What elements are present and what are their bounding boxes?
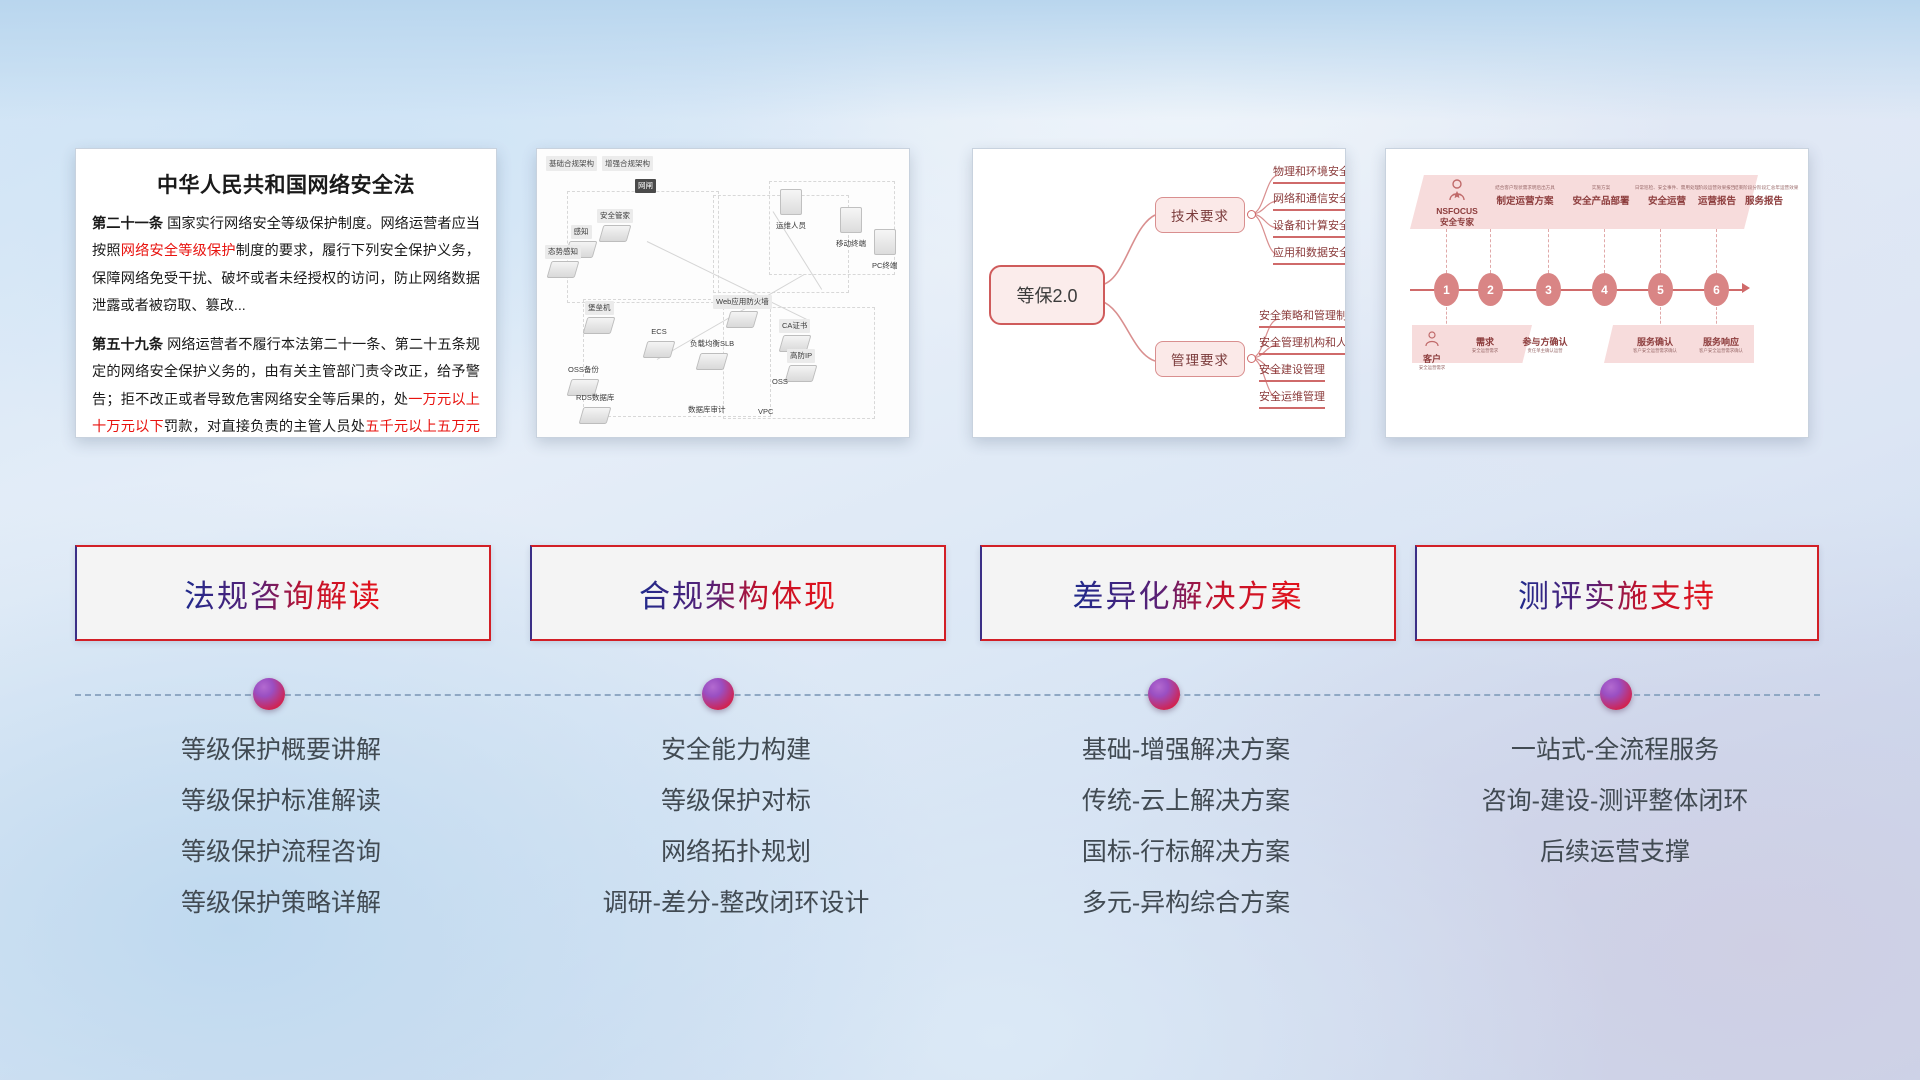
mindmap-leaf: 安全策略和管理制度 <box>1259 307 1346 328</box>
timeline-persona: NSFOCUS 安全专家 <box>1428 179 1486 227</box>
article-21-label: 第二十一条 <box>92 216 163 232</box>
timeline-arrow-icon <box>1742 283 1750 293</box>
bottom-title: 需求 <box>1458 335 1512 348</box>
law-text-block: 中华人民共和国网络安全法 第二十一条 国家实行网络安全等级保护制度。网络运营者应… <box>76 149 496 437</box>
arch-node-ecs: ECS <box>645 321 673 358</box>
persona-name-en: NSFOCUS <box>1428 206 1486 217</box>
arch-node-waf: Web应用防火墙 <box>713 291 772 328</box>
detail-list-compliance-architecture: 安全能力构建 等级保护对标 网络拓扑规划 调研-差分-整改闭环设计 <box>530 738 942 942</box>
article-59-label: 第五十九条 <box>92 337 163 353</box>
arch-node-label: 感知 <box>571 225 592 239</box>
list-item: 网络拓扑规划 <box>530 840 942 865</box>
timeline-dash <box>1716 229 1718 273</box>
timeline-diagram: NSFOCUS 安全专家 结合客户现状需求明后出方具 制定运营方案 实施方案 安… <box>1386 149 1808 437</box>
list-item: 多元-异构综合方案 <box>980 891 1392 916</box>
timeline-node-4[interactable]: 4 <box>1592 273 1617 306</box>
mindmap-collapse-icon[interactable] <box>1247 210 1256 219</box>
law-article-21: 第二十一条 国家实行网络安全等级保护制度。网络运营者应当按照网络安全等级保护制度… <box>92 211 480 320</box>
arch-node-mobile: 移动终端 <box>833 205 869 251</box>
arch-node-label: PC终端 <box>869 259 900 273</box>
list-item: 一站式-全流程服务 <box>1415 738 1815 763</box>
timeline-node-3[interactable]: 3 <box>1536 273 1561 306</box>
detail-list-evaluation-support: 一站式-全流程服务 咨询-建设-测评整体闭环 后续运营支撑 <box>1415 738 1815 891</box>
list-item: 咨询-建设-测评整体闭环 <box>1415 789 1815 814</box>
card-cybersecurity-law: 中华人民共和国网络安全法 第二十一条 国家实行网络安全等级保护制度。网络运营者应… <box>75 148 497 438</box>
arch-node-security-butler: 安全管家 <box>597 205 633 242</box>
timeline-bottom-client: 客户 安全运营需求 <box>1412 331 1452 371</box>
category-pill-evaluation-support[interactable]: 测评实施支持 <box>1415 545 1819 641</box>
arch-node-label: ECS <box>648 326 669 338</box>
arch-node-label: Web应用防火墙 <box>713 295 772 309</box>
bottom-title: 参与方确认 <box>1510 335 1580 348</box>
timeline-node-1[interactable]: 1 <box>1434 273 1459 306</box>
timeline-dash <box>1660 229 1662 273</box>
arch-node-vpc: VPC <box>755 401 776 419</box>
timeline-step-head-6: 结束阶段分阶段汇总年运营效果 服务报告 <box>1734 185 1794 209</box>
step-title: 制定运营方案 <box>1496 196 1553 207</box>
timeline-bottom-response: 服务响应 客户安全运营需求确认 <box>1690 335 1752 354</box>
bottom-title: 服务确认 <box>1624 335 1686 348</box>
timeline-node-2[interactable]: 2 <box>1478 273 1503 306</box>
list-item: 传统-云上解决方案 <box>980 789 1392 814</box>
arch-node-shape <box>643 341 676 358</box>
mindmap-leaf: 网络和通信安全 <box>1273 190 1346 211</box>
detail-list-row: 等级保护概要讲解 等级保护标准解读 等级保护流程咨询 等级保护策略详解 安全能力… <box>0 738 1920 988</box>
bottom-sub: 客户安全运营需求确认 <box>1624 348 1686 354</box>
timeline-node-5[interactable]: 5 <box>1648 273 1673 306</box>
arch-node-shape <box>874 229 896 255</box>
list-item: 等级保护标准解读 <box>75 789 487 814</box>
article-21-highlight: 网络安全等级保护 <box>121 243 236 259</box>
timeline-bottom-participate: 参与方确认 责任单主确认运营 <box>1510 335 1580 354</box>
arch-node-shape <box>599 225 632 242</box>
step-sub: 结束阶段分阶段汇总年运营效果 <box>1734 185 1794 191</box>
arch-node-label: RDS数据库 <box>573 391 617 405</box>
infographic-canvas: 中华人民共和国网络安全法 第二十一条 国家实行网络安全等级保护制度。网络运营者应… <box>0 0 1920 1080</box>
arch-node-shape <box>726 311 759 328</box>
arch-node-label: CA证书 <box>779 319 810 333</box>
client-person-icon <box>1424 331 1440 347</box>
process-knob-2[interactable] <box>702 678 734 710</box>
process-axis-line <box>75 694 1820 696</box>
architecture-diagram: 基础合规架构 增强合规架构 网闸 安全管家 感知 <box>537 149 909 437</box>
arch-node-label: 高防IP <box>787 349 815 363</box>
timeline-step-head-2: 结合客户现状需求明后出方具 制定运营方案 <box>1482 185 1568 209</box>
arch-node-shape <box>583 317 616 334</box>
arch-node-label: 态势感知 <box>545 245 581 259</box>
mindmap-leaf: 设备和计算安全 <box>1273 217 1346 238</box>
card-mindmap-dengbao: 等保2.0 技术要求 管理要求 物理和环境安全 网络和通信安全 设备和计算安全 … <box>972 148 1346 438</box>
law-title: 中华人民共和国网络安全法 <box>92 169 480 199</box>
list-item: 后续运营支撑 <box>1415 840 1815 865</box>
category-pill-row: 法规咨询解读 合规架构体现 差异化解决方案 测评实施支持 <box>0 545 1920 645</box>
step-title: 运营报告 <box>1698 196 1736 207</box>
list-item: 等级保护对标 <box>530 789 942 814</box>
process-knob-3[interactable] <box>1148 678 1180 710</box>
arch-node-oss: OSS <box>769 371 791 389</box>
timeline-bottom-confirm: 服务确认 客户安全运营需求确认 <box>1624 335 1686 354</box>
arch-node-anti-ddos: 高防IP <box>787 345 815 382</box>
arch-node-label: 运维人员 <box>773 219 809 233</box>
arch-node-db-audit: 数据库审计 <box>685 399 729 417</box>
bottom-title: 服务响应 <box>1690 335 1752 348</box>
mindmap-branch-technical: 技术要求 <box>1155 197 1245 233</box>
bottom-sub: 客户安全运营需求确认 <box>1690 348 1752 354</box>
category-pill-differentiated-solution[interactable]: 差异化解决方案 <box>980 545 1396 641</box>
arch-node-ops-staff: 运维人员 <box>773 187 809 233</box>
mindmap-leaf: 应用和数据安全 <box>1273 244 1346 265</box>
mindmap-diagram: 等保2.0 技术要求 管理要求 物理和环境安全 网络和通信安全 设备和计算安全 … <box>973 149 1345 437</box>
mindmap-branch-management: 管理要求 <box>1155 341 1245 377</box>
architecture-tabs: 基础合规架构 增强合规架构 <box>546 156 653 171</box>
mindmap-leaf: 安全管理机构和人员 <box>1259 334 1346 355</box>
arch-node-label: 移动终端 <box>833 237 869 251</box>
card-compliance-architecture: 基础合规架构 增强合规架构 网闸 安全管家 感知 <box>536 148 910 438</box>
arch-node-label: 负载均衡SLB <box>687 337 737 351</box>
timeline-node-6[interactable]: 6 <box>1704 273 1729 306</box>
arch-node-label: OSS <box>769 376 791 388</box>
category-pill-regulation-consulting[interactable]: 法规咨询解读 <box>75 545 491 641</box>
arch-node-bastion-host: 堡垒机 <box>585 297 614 334</box>
step-title: 安全产品部署 <box>1572 196 1629 207</box>
list-item: 安全能力构建 <box>530 738 942 763</box>
bottom-sub: 安全运营需求 <box>1458 348 1512 354</box>
arch-node-shape <box>579 407 612 424</box>
arch-node-label: OSS备份 <box>565 363 602 377</box>
law-article-59: 第五十九条 网络运营者不履行本法第二十一条、第二十五条规定的网络安全保护义务的，… <box>92 332 480 438</box>
mindmap-leaf: 安全运维管理 <box>1259 388 1325 409</box>
timeline-dash <box>1604 229 1606 273</box>
detail-list-regulation-consulting: 等级保护概要讲解 等级保护标准解读 等级保护流程咨询 等级保护策略详解 <box>75 738 487 942</box>
arch-node-label: 堡垒机 <box>585 301 614 315</box>
image-card-row: 中华人民共和国网络安全法 第二十一条 国家实行网络安全等级保护制度。网络运营者应… <box>0 148 1920 444</box>
arch-node-shape <box>780 189 802 215</box>
arch-node-shape <box>840 207 862 233</box>
mindmap-root-node: 等保2.0 <box>989 265 1105 325</box>
persona-name-cn: 安全专家 <box>1428 217 1486 228</box>
bottom-title: 客户 <box>1412 352 1452 365</box>
category-pill-label: 合规架构体现 <box>639 571 837 616</box>
category-pill-compliance-architecture[interactable]: 合规架构体现 <box>530 545 946 641</box>
arch-tab-enhanced[interactable]: 增强合规架构 <box>602 156 653 171</box>
arch-node-pc: PC终端 <box>869 227 900 273</box>
list-item: 基础-增强解决方案 <box>980 738 1392 763</box>
card-operations-timeline: NSFOCUS 安全专家 结合客户现状需求明后出方具 制定运营方案 实施方案 安… <box>1385 148 1809 438</box>
step-title: 服务报告 <box>1745 196 1783 207</box>
list-item: 等级保护概要讲解 <box>75 738 487 763</box>
arch-node-shape <box>696 353 729 370</box>
timeline-bottom-demand: 需求 安全运营需求 <box>1458 335 1512 354</box>
category-pill-label: 差异化解决方案 <box>1073 571 1304 616</box>
arch-node-shape <box>547 261 580 278</box>
arch-tab-basic[interactable]: 基础合规架构 <box>546 156 597 171</box>
category-pill-label: 测评实施支持 <box>1518 571 1716 616</box>
bottom-sub: 责任单主确认运营 <box>1510 348 1580 354</box>
timeline-dash <box>1446 229 1448 273</box>
category-pill-label: 法规咨询解读 <box>184 571 382 616</box>
mindmap-leaf: 物理和环境安全 <box>1273 163 1346 184</box>
article-59-part2: 罚款，对直接负责的主管人员处 <box>164 419 365 435</box>
list-item: 调研-差分-整改闭环设计 <box>530 891 942 916</box>
arch-node-slb: 负载均衡SLB <box>687 333 737 370</box>
arch-node-situational-awareness: 态势感知 <box>545 241 581 278</box>
step-sub: 结合客户现状需求明后出方具 <box>1482 185 1568 191</box>
detail-list-differentiated-solution: 基础-增强解决方案 传统-云上解决方案 国标-行标解决方案 多元-异构综合方案 <box>980 738 1392 942</box>
arch-node-gateway: 网闸 <box>635 175 656 193</box>
arch-node-label: 数据库审计 <box>685 403 729 417</box>
list-item: 等级保护流程咨询 <box>75 840 487 865</box>
arch-node-label: VPC <box>755 406 776 418</box>
bottom-sub: 安全运营需求 <box>1412 365 1452 371</box>
timeline-dash <box>1548 229 1550 273</box>
mindmap-leaf: 安全建设管理 <box>1259 361 1325 382</box>
arch-node-label: 网闸 <box>635 179 656 193</box>
process-knob-1[interactable] <box>253 678 285 710</box>
arch-node-rds: RDS数据库 <box>573 387 617 424</box>
list-item: 等级保护策略详解 <box>75 891 487 916</box>
list-item: 国标-行标解决方案 <box>980 840 1392 865</box>
timeline-dash <box>1490 229 1492 273</box>
mindmap-collapse-icon[interactable] <box>1247 354 1256 363</box>
expert-person-icon <box>1447 179 1467 201</box>
timeline-axis <box>1410 289 1744 291</box>
process-knob-4[interactable] <box>1600 678 1632 710</box>
arch-node-label: 安全管家 <box>597 209 633 223</box>
